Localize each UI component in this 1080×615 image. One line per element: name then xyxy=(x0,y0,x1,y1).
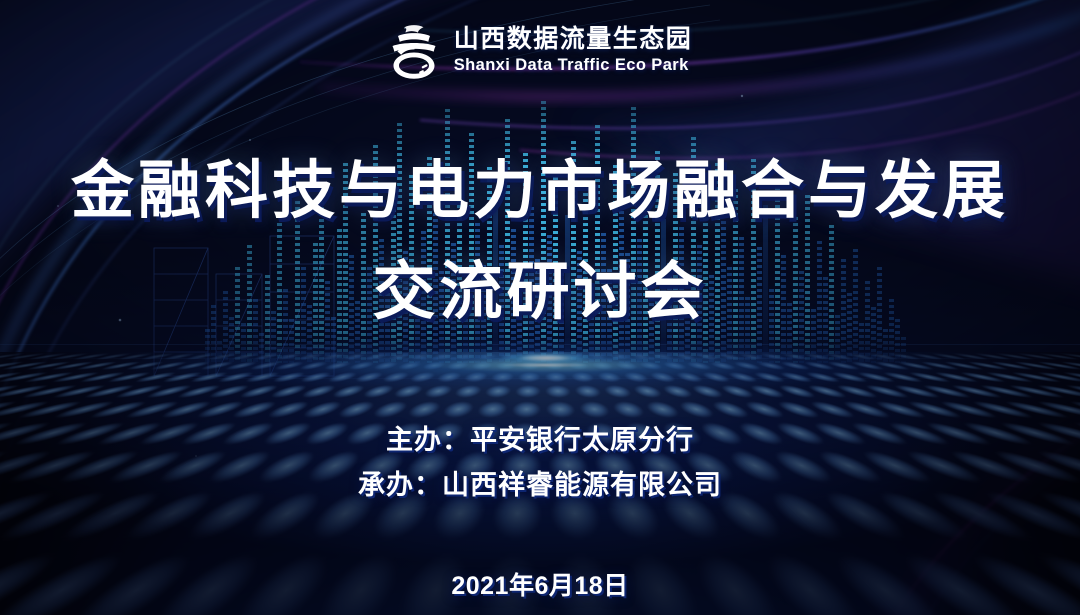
event-date: 2021年6月18日 xyxy=(0,566,1080,602)
brand-logo: 山西数据流量生态园 Shanxi Data Traffic Eco Park xyxy=(0,21,1080,79)
brand-name-block: 山西数据流量生态园 Shanxi Data Traffic Eco Park xyxy=(454,27,693,74)
brand-name-en: Shanxi Data Traffic Eco Park xyxy=(454,57,689,74)
brand-name-cn: 山西数据流量生态园 xyxy=(454,27,693,52)
organizer-block: 主办：平安银行太原分行 承办：山西祥睿能源有限公司 xyxy=(0,427,1080,499)
host-line: 主办：平安银行太原分行 xyxy=(0,427,1080,454)
conference-poster: 山西数据流量生态园 Shanxi Data Traffic Eco Park 金… xyxy=(0,0,1080,615)
co-host-line: 承办：山西祥睿能源有限公司 xyxy=(0,472,1080,499)
title-line-1: 金融科技与电力市场融合与发展 xyxy=(0,160,1080,223)
page-title: 金融科技与电力市场融合与发展 交流研讨会 xyxy=(0,160,1080,324)
title-line-2: 交流研讨会 xyxy=(0,261,1080,324)
shanxi-eco-park-logo-icon xyxy=(388,21,440,79)
